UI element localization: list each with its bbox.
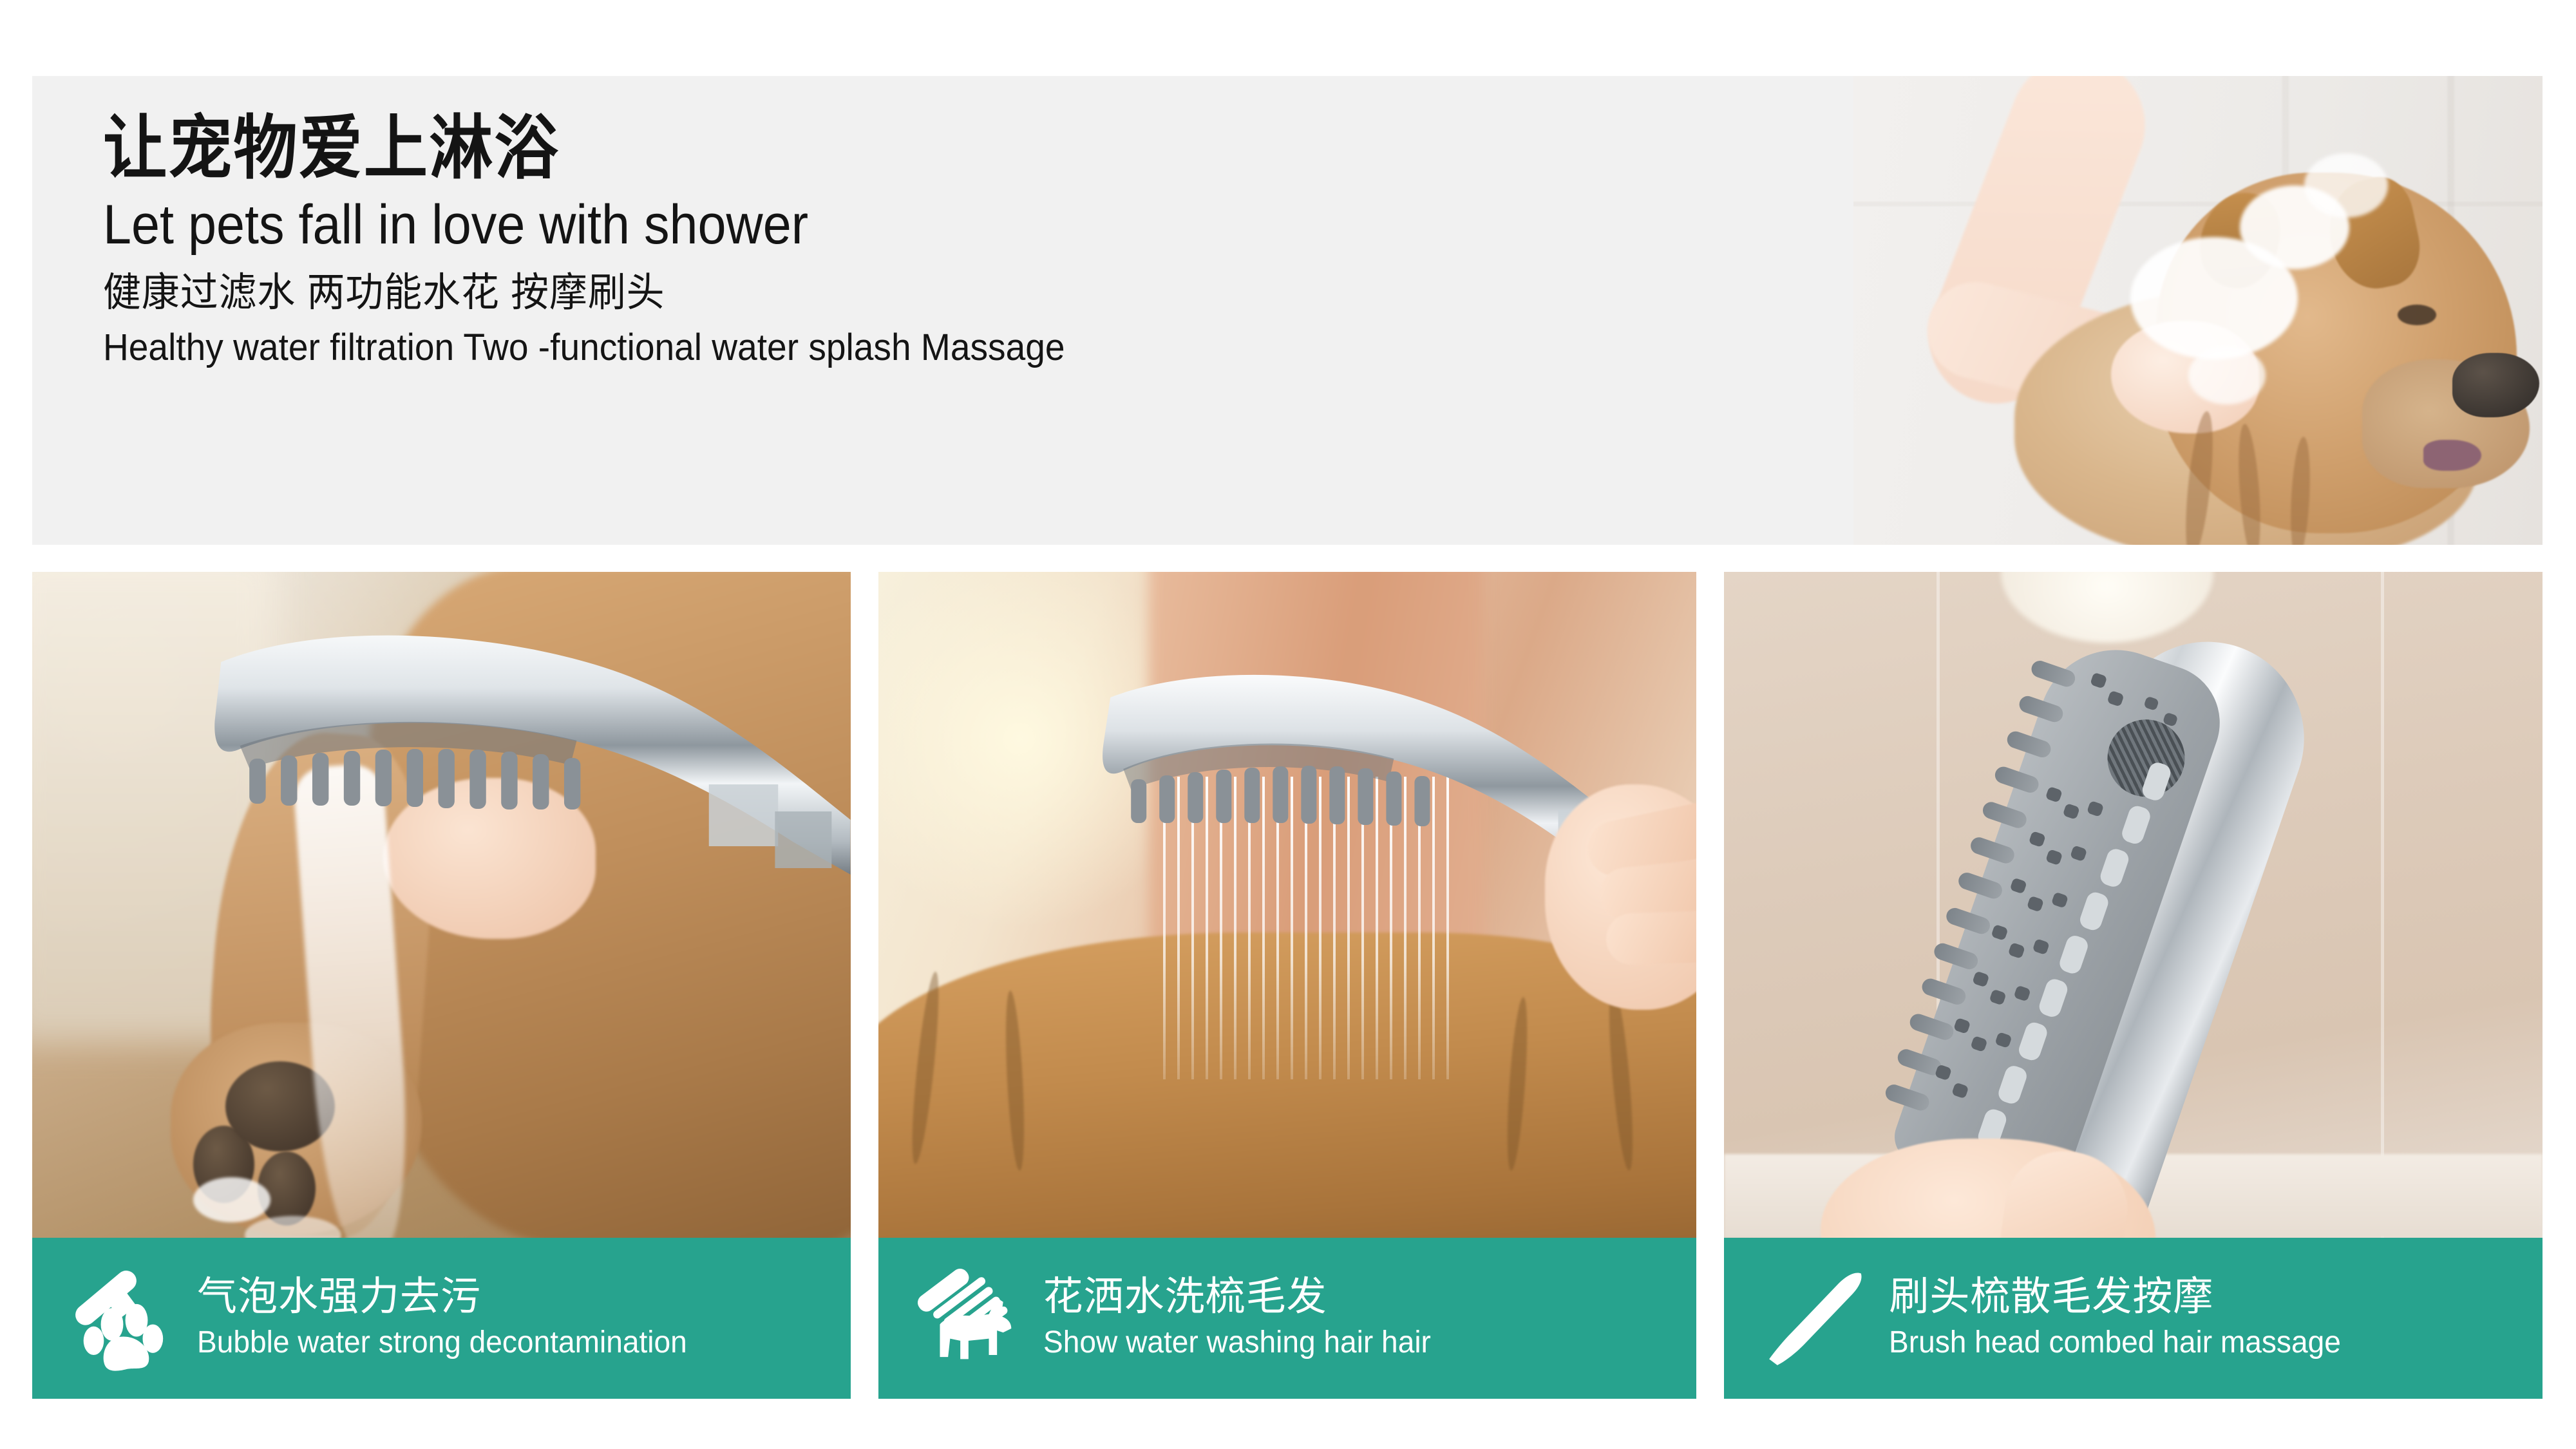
caption-cn: 花洒水洗梳毛发	[1043, 1274, 1327, 1319]
rain-spray-on-dog-photo	[878, 572, 1697, 1238]
dog-eye	[2398, 305, 2436, 325]
caption-cn: 气泡水强力去污	[197, 1274, 481, 1319]
hero-banner: 让宠物爱上淋浴 Let pets fall in love with showe…	[32, 76, 2543, 545]
caption-en: Show water washing hair hair	[1043, 1324, 1431, 1362]
hero-dog-bath-photo	[1853, 76, 2543, 545]
brush-teeth-row	[249, 749, 580, 810]
brush-head-closeup-photo	[1724, 572, 2543, 1238]
feature-card-rain-spray[interactable]: 花洒水洗梳毛发 Show water washing hair hair	[878, 572, 1697, 1399]
shower-paw-icon	[63, 1257, 185, 1379]
caption-en: Bubble water strong decontamination	[197, 1324, 687, 1362]
feature-card-brush-massage[interactable]: 刷头梳散毛发按摩 Brush head combed hair massage	[1724, 572, 2543, 1399]
caption-bar-brush-massage: 刷头梳散毛发按摩 Brush head combed hair massage	[1724, 1238, 2543, 1399]
tile-seam	[2381, 572, 2384, 1238]
paw-washing-photo	[32, 572, 851, 1238]
caption-text-block: 刷头梳散毛发按摩 Brush head combed hair massage	[1889, 1274, 2360, 1362]
hero-title-cn: 让宠物爱上淋浴	[103, 107, 1288, 189]
caption-en: Brush head combed hair massage	[1889, 1324, 2341, 1362]
caption-cn: 刷头梳散毛发按摩	[1889, 1274, 2213, 1319]
caption-bar-bubble-water: 气泡水强力去污 Bubble water strong decontaminat…	[32, 1238, 851, 1399]
handle-ring	[775, 811, 831, 868]
shampoo-suds	[2304, 153, 2388, 218]
feature-cards-row: 气泡水强力去污 Bubble water strong decontaminat…	[32, 572, 2543, 1399]
hero-subtitle-cn: 健康过滤水 两功能水花 按摩刷头	[103, 267, 1327, 319]
shampoo-suds	[2188, 346, 2266, 404]
handle-ring	[709, 784, 779, 846]
caption-text-block: 气泡水强力去污 Bubble water strong decontaminat…	[197, 1274, 708, 1362]
caption-text-block: 花洒水洗梳毛发 Show water washing hair hair	[1043, 1274, 1447, 1362]
shower-head-product	[32, 572, 851, 1238]
finger	[1605, 910, 1696, 966]
hero-text-block: 让宠物爱上淋浴 Let pets fall in love with showe…	[103, 107, 1391, 372]
dog-tongue	[2423, 440, 2481, 471]
hero-title-en: Let pets fall in love with shower	[103, 193, 1288, 258]
caption-bar-rain-spray: 花洒水洗梳毛发 Show water washing hair hair	[878, 1238, 1697, 1399]
feature-card-bubble-water[interactable]: 气泡水强力去污 Bubble water strong decontaminat…	[32, 572, 851, 1399]
shower-dog-icon	[909, 1257, 1032, 1379]
brush-comb-icon	[1755, 1257, 1877, 1379]
hero-subtitle-en: Healthy water filtration Two -functional…	[103, 323, 1327, 372]
